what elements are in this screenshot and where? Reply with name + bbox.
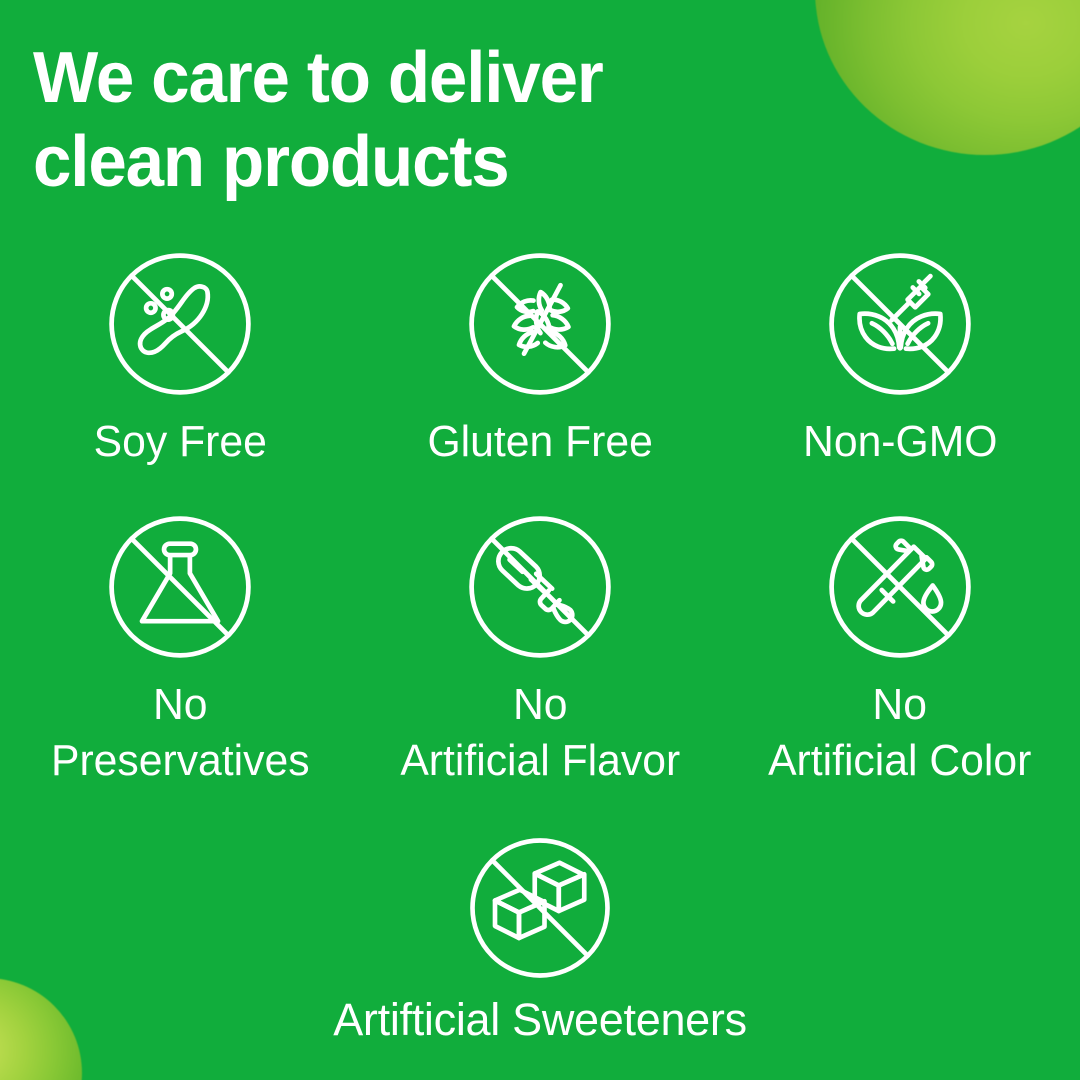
badge-label: Soy Free bbox=[93, 414, 266, 470]
page-title: We care to deliver clean products bbox=[33, 36, 705, 204]
badge-row-1: Soy Free bbox=[0, 248, 1080, 511]
badge-row-2: No Preservatives No Artificial Fl bbox=[0, 511, 1080, 833]
badge-label: No Artificial Flavor bbox=[400, 677, 680, 789]
badge-row-3: Artifticial Sweeteners bbox=[0, 833, 1080, 1047]
badge-no-artificial-color: No Artificial Color bbox=[720, 511, 1080, 833]
no-preservatives-flask-icon bbox=[104, 511, 256, 663]
badge-label: Gluten Free bbox=[427, 414, 652, 470]
badge-label: No Preservatives bbox=[51, 677, 310, 789]
no-gluten-icon bbox=[464, 248, 616, 400]
no-soy-icon bbox=[104, 248, 256, 400]
badge-no-artificial-flavor: No Artificial Flavor bbox=[360, 511, 720, 833]
green-apple-top-right-decoration bbox=[815, 0, 1080, 155]
badge-non-gmo: Non-GMO bbox=[720, 248, 1080, 511]
clean-products-poster: We care to deliver clean products Soy Fr… bbox=[0, 0, 1080, 1080]
no-artificial-sweeteners-sugarcube-icon bbox=[465, 833, 615, 983]
no-artificial-flavor-dropper-icon bbox=[464, 511, 616, 663]
non-gmo-icon bbox=[824, 248, 976, 400]
badge-soy-free: Soy Free bbox=[0, 248, 360, 511]
no-artificial-color-testtube-icon bbox=[824, 511, 976, 663]
badge-grid: Soy Free bbox=[0, 248, 1080, 1047]
badge-gluten-free: Gluten Free bbox=[360, 248, 720, 511]
badge-no-artificial-sweeteners: Artifticial Sweeteners bbox=[230, 833, 850, 1047]
badge-label: Non-GMO bbox=[803, 414, 997, 470]
badge-no-preservatives: No Preservatives bbox=[0, 511, 360, 833]
badge-label: No Artificial Color bbox=[768, 677, 1031, 789]
badge-label: Artifticial Sweeteners bbox=[333, 993, 747, 1047]
